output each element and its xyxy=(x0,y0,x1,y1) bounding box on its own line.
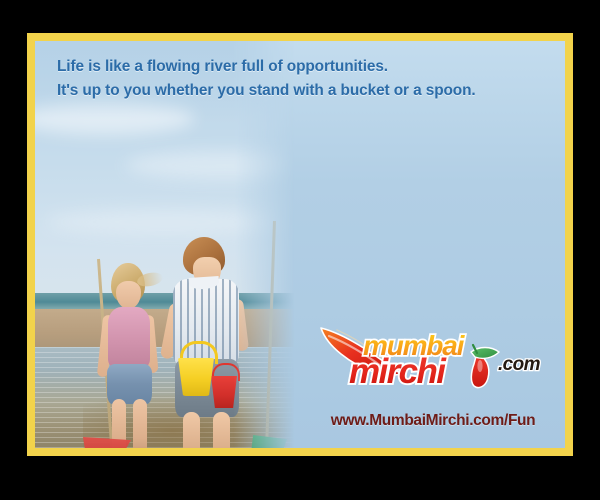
website-url[interactable]: www.MumbaiMirchi.com/Fun xyxy=(319,412,547,430)
photo-cloud xyxy=(45,209,285,235)
quote-text: Life is like a flowing river full of opp… xyxy=(57,55,557,103)
mumbai-mirchi-logo[interactable]: mumbai mirchi .com xyxy=(315,322,547,396)
photo-girl xyxy=(95,263,167,448)
yellow-bucket xyxy=(178,358,214,396)
girl-denim-shorts xyxy=(107,364,152,404)
poster-canvas: Life is like a flowing river full of opp… xyxy=(35,41,565,448)
red-bucket xyxy=(211,376,237,408)
chili-pepper-icon xyxy=(471,345,499,388)
boy-leg xyxy=(183,412,200,448)
logo-word-mirchi: mirchi xyxy=(349,352,447,391)
girl-pink-top xyxy=(108,307,150,369)
poster-root: Life is like a flowing river full of opp… xyxy=(0,0,600,500)
boy-leg xyxy=(213,412,230,448)
quote-line-1: Life is like a flowing river full of opp… xyxy=(57,55,557,79)
girl-leg xyxy=(133,399,147,448)
girl-face xyxy=(116,281,141,309)
quote-line-2: It's up to you whether you stand with a … xyxy=(57,79,557,103)
logo-suffix-com: .com xyxy=(498,354,541,375)
brand-logo-block[interactable]: mumbai mirchi .com xyxy=(315,322,547,430)
poster-frame: Life is like a flowing river full of opp… xyxy=(27,33,573,456)
